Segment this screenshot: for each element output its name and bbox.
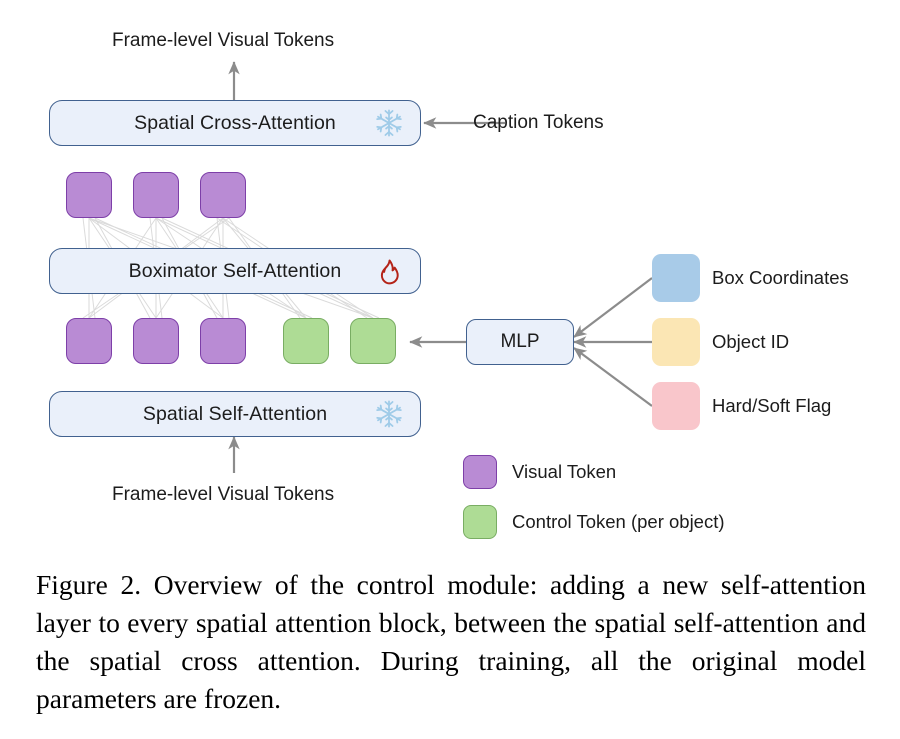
- spatial-cross-attention-label: Spatial Cross-Attention: [134, 112, 336, 135]
- token-lower-1: [66, 318, 112, 364]
- token-lower-3: [200, 318, 246, 364]
- token-upper-1: [66, 172, 112, 218]
- legend-swatch-visual-token: [463, 455, 497, 489]
- snowflake-icon: [374, 399, 404, 429]
- spatial-self-attention-label: Spatial Self-Attention: [143, 403, 327, 426]
- arrow-hard-soft-flag-to-mlp: [574, 348, 652, 406]
- token-lower-2: [133, 318, 179, 364]
- legend-label-control-token: Control Token (per object): [512, 505, 725, 539]
- input-swatch-object-id: [652, 318, 700, 366]
- figure-caption-text: Figure 2. Overview of the control module…: [36, 569, 866, 714]
- output-tokens-label: Frame-level Visual Tokens: [112, 30, 334, 52]
- token-lower-control-1: [283, 318, 329, 364]
- snowflake-icon: [374, 108, 404, 138]
- caption-tokens-label: Caption Tokens: [473, 112, 604, 134]
- input-label-box-coordinates: Box Coordinates: [712, 254, 849, 302]
- input-tokens-label: Frame-level Visual Tokens: [112, 484, 334, 506]
- legend-swatch-control-token: [463, 505, 497, 539]
- figure-caption: Figure 2. Overview of the control module…: [36, 566, 866, 718]
- input-label-hard-soft-flag: Hard/Soft Flag: [712, 382, 831, 430]
- mlp-label: MLP: [500, 331, 539, 353]
- token-upper-3: [200, 172, 246, 218]
- input-label-object-id: Object ID: [712, 318, 789, 366]
- token-lower-control-2: [350, 318, 396, 364]
- token-upper-2: [133, 172, 179, 218]
- arrow-box-coordinates-to-mlp: [574, 278, 652, 337]
- figure-container: Frame-level Visual Tokens Spatial Cross-…: [0, 0, 900, 739]
- spatial-self-attention-block[interactable]: Spatial Self-Attention: [49, 391, 421, 437]
- mlp-block[interactable]: MLP: [466, 319, 574, 365]
- legend-label-visual-token: Visual Token: [512, 455, 616, 489]
- flame-icon: [374, 256, 404, 286]
- input-swatch-hard-soft-flag: [652, 382, 700, 430]
- input-swatch-box-coordinates: [652, 254, 700, 302]
- boximator-self-attention-block[interactable]: Boximator Self-Attention: [49, 248, 421, 294]
- spatial-cross-attention-block[interactable]: Spatial Cross-Attention: [49, 100, 421, 146]
- boximator-self-attention-label: Boximator Self-Attention: [129, 260, 342, 283]
